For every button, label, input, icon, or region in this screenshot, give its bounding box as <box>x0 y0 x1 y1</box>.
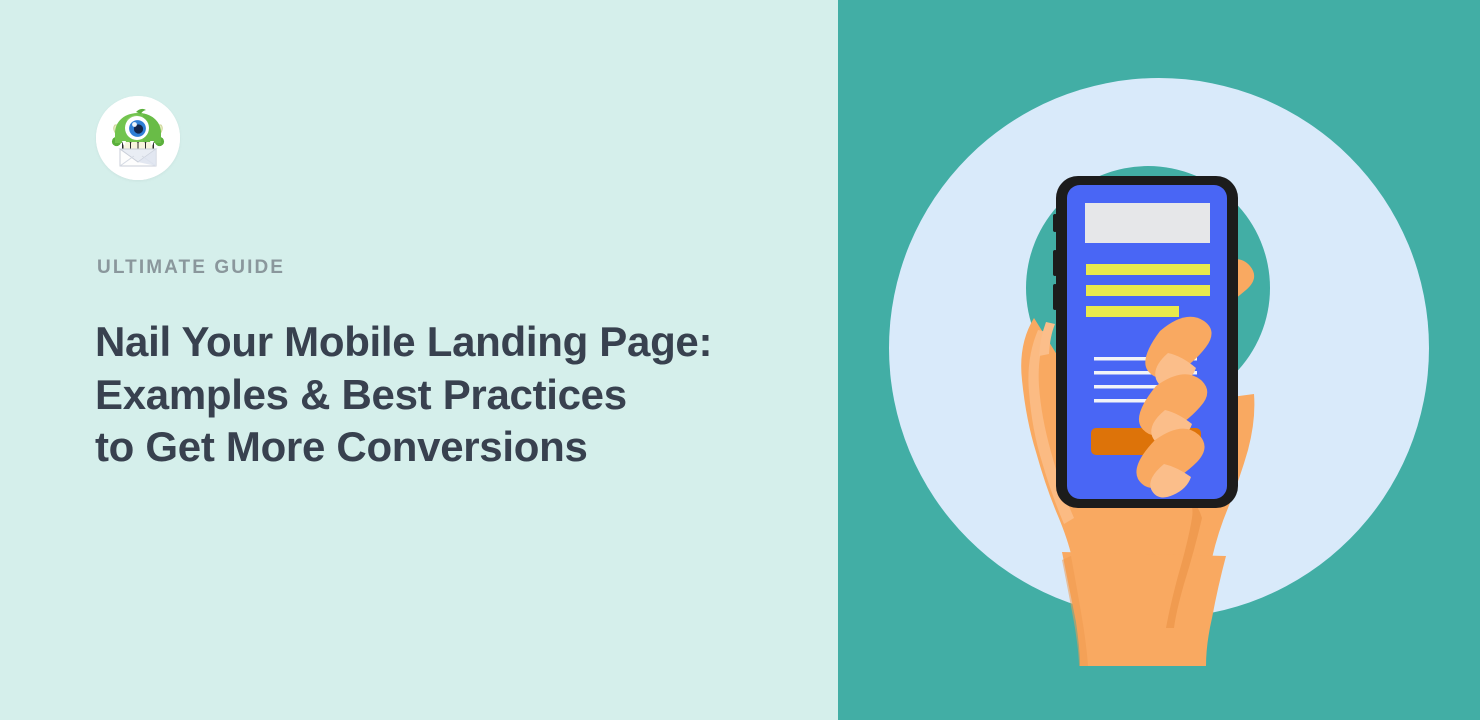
optinmonster-logo <box>96 96 180 180</box>
screen-highlight-bar <box>1086 285 1210 296</box>
page-canvas: ULTIMATE GUIDE Nail Your Mobile Landing … <box>0 0 1480 720</box>
headline-line-2: Examples & Best Practices <box>95 369 795 422</box>
phone-volume-up <box>1053 250 1057 276</box>
headline-line-1: Nail Your Mobile Landing Page: <box>95 316 795 369</box>
phone-side-button <box>1053 214 1057 232</box>
page-title: Nail Your Mobile Landing Page: Examples … <box>95 316 795 474</box>
eyebrow-label: ULTIMATE GUIDE <box>97 258 285 277</box>
screen-header-block <box>1085 203 1210 243</box>
headline-line-3: to Get More Conversions <box>95 421 795 474</box>
screen-highlight-bar <box>1086 306 1179 317</box>
phone-volume-down <box>1053 284 1057 310</box>
left-content-panel: ULTIMATE GUIDE Nail Your Mobile Landing … <box>0 0 838 720</box>
hand-holding-phone-illustration <box>838 0 1480 720</box>
right-illustration-panel <box>838 0 1480 720</box>
screen-highlight-bar <box>1086 264 1210 275</box>
